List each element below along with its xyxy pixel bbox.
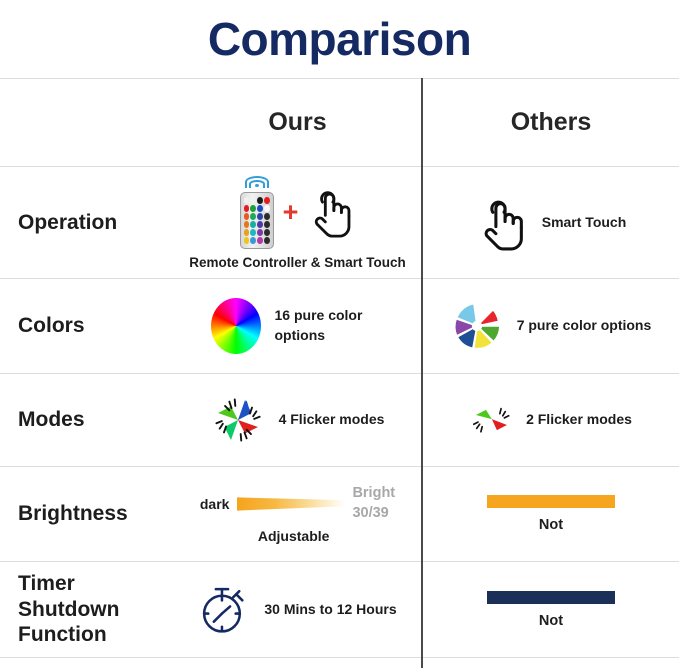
cell-ours-colors: 16 pure color options (172, 279, 423, 373)
solid-navy-bar-icon (487, 591, 615, 604)
remote-controller-icon (240, 192, 274, 249)
header-cell-others: Others (423, 79, 679, 166)
table-row-modes: Modes (0, 373, 679, 466)
cell-others-brightness: Not (423, 467, 679, 561)
remote-key (257, 229, 263, 236)
touch-hand-icon (476, 195, 528, 251)
remote-key (250, 221, 256, 228)
brightness-gradient-wedge-icon (237, 493, 345, 515)
comparison-table: Ours Others Operation (0, 78, 679, 658)
column-divider (421, 78, 423, 668)
header-others-label: Others (511, 108, 592, 137)
ours-colors-content: 16 pure color options (211, 298, 385, 354)
brightness-scale: dark Bright (200, 484, 395, 523)
others-operation-text: Smart Touch (542, 213, 627, 233)
row-label-cell-colors: Colors (0, 279, 172, 373)
header-cell-feature (0, 79, 172, 166)
wifi-dot (255, 184, 259, 187)
cell-ours-timer: 30 Mins to 12 Hours (172, 562, 423, 657)
remote-key (257, 237, 263, 244)
remote-key (264, 205, 270, 212)
remote-key (264, 213, 270, 220)
remote-key (250, 237, 256, 244)
others-timer-content: Not (487, 591, 615, 629)
brightness-level-value: 30/39 (352, 505, 388, 521)
ours-timer-content: 30 Mins to 12 Hours (198, 582, 396, 638)
remote-key (244, 237, 250, 244)
others-modes-content: 2 Flicker modes (470, 399, 632, 441)
header-cell-ours: Ours (172, 79, 423, 166)
others-brightness-caption: Not (539, 517, 563, 533)
ours-operation-content: + Remote Controller & Smart Touch (189, 176, 406, 270)
row-label-brightness: Brightness (18, 501, 128, 527)
table-row-operation: Operation (0, 166, 679, 278)
remote-key (250, 229, 256, 236)
header-ours-label: Ours (268, 108, 326, 137)
ours-timer-text: 30 Mins to 12 Hours (264, 600, 396, 620)
others-operation-content: Smart Touch (476, 195, 627, 251)
row-label-colors: Colors (18, 313, 85, 339)
row-label-cell-timer: Timer Shutdown Function (0, 562, 172, 657)
cell-others-timer: Not (423, 562, 679, 657)
remote-key (257, 205, 263, 212)
remote-key (244, 205, 250, 212)
row-label-cell-modes: Modes (0, 374, 172, 466)
remote-key (244, 213, 250, 220)
flicker-pinwheel-icon (211, 393, 265, 447)
ours-modes-content: 4 Flicker modes (211, 393, 385, 447)
wifi-signal-icon (244, 176, 270, 190)
color-wheel-icon (211, 298, 261, 354)
table-row-timer: Timer Shutdown Function (0, 561, 679, 658)
others-colors-content: 7 pure color options (451, 300, 652, 352)
remote-key (264, 197, 270, 204)
table-row-brightness: Brightness dark (0, 466, 679, 561)
others-modes-text: 2 Flicker modes (526, 410, 632, 430)
row-label-timer: Timer Shutdown Function (18, 571, 119, 648)
remote-key (264, 237, 270, 244)
remote-key (257, 221, 263, 228)
remote-key (264, 221, 270, 228)
cell-ours-brightness: dark Bright (172, 467, 423, 561)
remote-key (257, 197, 263, 204)
remote-controller-group (240, 176, 274, 249)
brightness-bright-label: Bright 30/39 (352, 484, 395, 523)
remote-key (250, 197, 256, 204)
cell-ours-operation: + Remote Controller & Smart Touch (172, 167, 423, 278)
ours-brightness-content: dark Bright (200, 484, 395, 543)
others-timer-caption: Not (539, 613, 563, 629)
remote-key (257, 213, 263, 220)
others-brightness-content: Not (487, 495, 615, 533)
remote-key (250, 213, 256, 220)
remote-key (244, 197, 250, 204)
page-title-bar: Comparison (0, 0, 679, 78)
plus-icon: + (283, 199, 299, 226)
page-title: Comparison (208, 16, 471, 62)
touch-hand-icon (307, 186, 355, 238)
row-label-timer-line2: Shutdown (18, 598, 119, 621)
table-header-row: Ours Others (0, 78, 679, 166)
remote-key (244, 221, 250, 228)
row-label-cell-operation: Operation (0, 167, 172, 278)
row-label-cell-brightness: Brightness (0, 467, 172, 561)
flicker-pinwheel-small-icon (470, 399, 512, 441)
cell-others-operation: Smart Touch (423, 167, 679, 278)
brightness-dark-label: dark (200, 496, 230, 512)
row-label-timer-line3: Function (18, 623, 107, 646)
row-label-modes: Modes (18, 407, 85, 433)
cell-ours-modes: 4 Flicker modes (172, 374, 423, 466)
table-row-colors: Colors 16 pure color options (0, 278, 679, 373)
seven-color-pie-icon (451, 300, 503, 352)
row-label-timer-line1: Timer (18, 572, 75, 595)
remote-key (244, 229, 250, 236)
ours-brightness-caption: Adjustable (258, 528, 330, 544)
solid-orange-bar-icon (487, 495, 615, 508)
ours-colors-text: 16 pure color options (275, 306, 385, 345)
stopwatch-icon (198, 582, 250, 638)
ours-operation-icons: + (240, 176, 356, 249)
ours-operation-caption: Remote Controller & Smart Touch (189, 255, 406, 270)
row-label-operation: Operation (18, 210, 117, 236)
brightness-bright-word: Bright (352, 485, 395, 501)
remote-key (250, 205, 256, 212)
others-colors-text: 7 pure color options (517, 316, 652, 336)
cell-others-modes: 2 Flicker modes (423, 374, 679, 466)
ours-modes-text: 4 Flicker modes (279, 410, 385, 430)
remote-key (264, 229, 270, 236)
cell-others-colors: 7 pure color options (423, 279, 679, 373)
